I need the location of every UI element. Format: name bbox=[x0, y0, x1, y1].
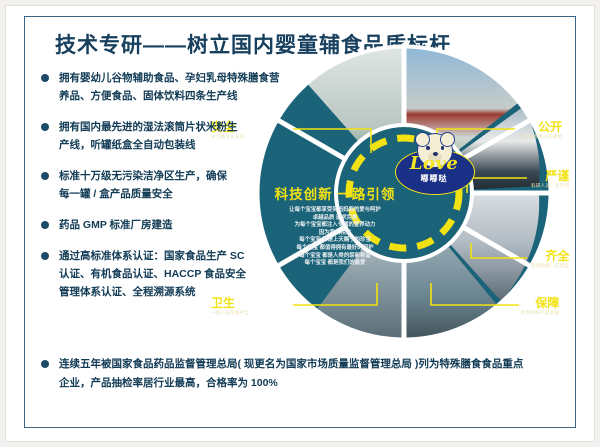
logo-chinese-name: 嘟嘟哒 bbox=[391, 173, 477, 184]
bullet-line: 每一罐 / 盒产品质量安全 bbox=[59, 185, 289, 203]
wheel-label-sub: 全天候专用公开透明 bbox=[519, 134, 562, 140]
bottom-note-line: 企业，产品抽检率居行业最高，合格率为 100% bbox=[59, 374, 559, 393]
bear-ear-left-icon bbox=[415, 132, 430, 147]
bullet-line: 产线，听罐纸盒全自动包装线 bbox=[59, 136, 289, 154]
wheel-label-rigorous[interactable]: 严谨 科研人员一丝不苟 bbox=[531, 170, 569, 189]
content-frame: 技术专研——树立国内婴童辅食品质标杆 bbox=[24, 16, 576, 428]
bear-eye-right-icon bbox=[441, 146, 445, 150]
list-item: 药品 GMP 标准厂房建造 bbox=[39, 216, 289, 234]
bottom-note: 连续五年被国家食品药品监督管理总局( 现更名为国家市场质量监督管理总局 )列为特… bbox=[39, 355, 559, 393]
list-item: 拥有婴幼儿谷物辅助食品、孕妇乳母特殊膳食营 养品、方便食品、固体饮料四条生产线 bbox=[39, 69, 289, 105]
slide-page: 技术专研——树立国内婴童辅食品质标杆 bbox=[0, 0, 600, 447]
wheel-label-sub: 检测设备一应俱全 bbox=[531, 263, 569, 269]
bullet-line: 管理体系认证、全程溯源系统 bbox=[59, 283, 289, 301]
wheel-label-text: 保障 bbox=[535, 296, 559, 310]
bear-eye-left-icon bbox=[426, 146, 430, 150]
bear-ear-right-icon bbox=[440, 132, 455, 147]
wheel-label-sub: 科研人员一丝不苟 bbox=[531, 183, 569, 189]
logo-wordmark: Love bbox=[391, 153, 477, 174]
list-item: 拥有国内最先进的湿法滚筒片状米粉生 产线，听罐纸盒全自动包装线 bbox=[39, 118, 289, 154]
bullet-line: 认证、有机食品认证、HACCP 食品安全 bbox=[59, 265, 289, 283]
bullet-line: 养品、方便食品、固体饮料四条生产线 bbox=[59, 87, 289, 105]
wheel-label-open[interactable]: 公开 全天候专用公开透明 bbox=[519, 121, 562, 140]
bullet-line: 标准十万级无污染洁净区生产，确保 bbox=[59, 167, 289, 185]
bullet-line: 拥有国内最先进的湿法滚筒片状米粉生 bbox=[59, 118, 289, 136]
wheel-label-complete[interactable]: 齐全 检测设备一应俱全 bbox=[531, 250, 569, 269]
list-item: 通过高标准体系认证：国家食品生产 SC 认证、有机食品认证、HACCP 食品安全… bbox=[39, 247, 289, 301]
bullet-line: 药品 GMP 标准厂房建造 bbox=[59, 216, 289, 234]
bottom-note-line: 连续五年被国家食品药品监督管理总局( 现更名为国家市场质量监督管理总局 )列为特… bbox=[59, 355, 559, 374]
feature-bullet-list: 拥有婴幼儿谷物辅助食品、孕妇乳母特殊膳食营 养品、方便食品、固体饮料四条生产线 … bbox=[39, 69, 289, 314]
wheel-label-text: 严谨 bbox=[545, 169, 569, 183]
wheel-label-guarantee[interactable]: 保障 时刻呵护产品品质 bbox=[521, 297, 559, 316]
bullet-line: 拥有婴幼儿谷物辅助食品、孕妇乳母特殊膳食营 bbox=[59, 69, 289, 87]
wheel-label-sub: 时刻呵护产品品质 bbox=[521, 310, 559, 316]
wheel-label-text: 齐全 bbox=[545, 249, 569, 263]
bullet-line: 通过高标准体系认证：国家食品生产 SC bbox=[59, 247, 289, 265]
wheel-label-text: 公开 bbox=[538, 120, 562, 134]
brand-logo: Love 嘟嘟哒 bbox=[391, 131, 477, 201]
list-item: 标准十万级无污染洁净区生产，确保 每一罐 / 盒产品质量安全 bbox=[39, 167, 289, 203]
